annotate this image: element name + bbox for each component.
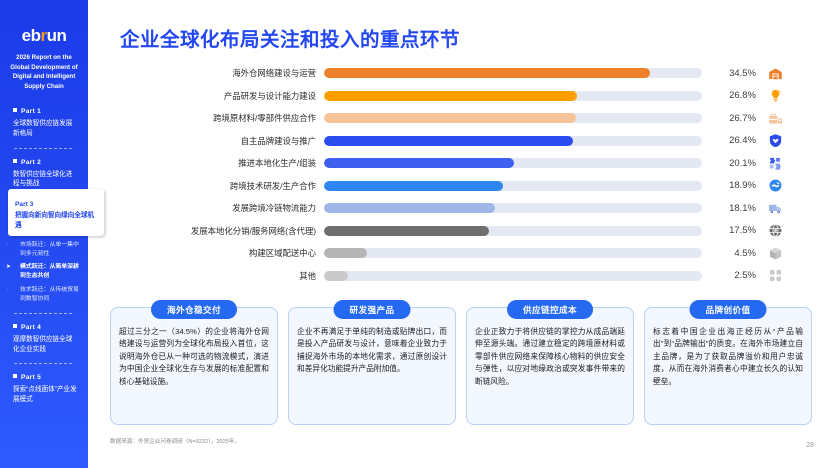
sidebar-subitem-1[interactable]: ➤模式跃迁：从简单深耕到生态共创 [6, 263, 82, 281]
bar-fill [324, 68, 650, 78]
bar-value-label: 34.5% [702, 68, 756, 79]
bar-value-label: 17.5% [702, 225, 756, 236]
sidebar-subitem-2[interactable]: ·技术跃迁：从传统贸易到数智协同 [6, 286, 82, 304]
bar-row: 产品研发与设计能力建设26.8% [98, 85, 832, 108]
bar-category-label: 自主品牌建设与推广 [98, 135, 324, 147]
bar-category-label: 发展本地化分销/服务网络(含代理) [98, 225, 324, 237]
bar-track [324, 181, 702, 191]
horizontal-bar-chart: 海外仓网络建设与运营34.5%产品研发与设计能力建设26.8%跨境原材料/零部件… [98, 62, 832, 287]
bar-fill [324, 203, 495, 213]
bar-row: 发展跨境冷链物流能力18.1% [98, 197, 832, 220]
page-title: 企业全球化布局关注和投入的重点环节 [120, 23, 460, 52]
logo-text-part1: eb [22, 26, 41, 45]
insight-card-body: 企业不再满足于单纯的制造或贴牌出口，而是投入产品研发与设计，意味着企业致力于捕捉… [297, 326, 447, 376]
bar-value-label: 2.5% [702, 270, 756, 281]
report-subtitle: 2026 Report on the Global Development of… [6, 53, 82, 91]
bullet-icon [13, 374, 17, 378]
puzzle-icon [756, 156, 786, 171]
insight-card: 研发强产品企业不再满足于单纯的制造或贴牌出口，而是投入产品研发与设计，意味着企业… [288, 307, 456, 425]
bar-value-label: 26.8% [702, 90, 756, 101]
bar-fill [324, 91, 577, 101]
sidebar-item-part4-label: Part 4 [21, 324, 41, 331]
bullet-dot-icon: · [6, 286, 8, 295]
sidebar-divider-3 [14, 363, 72, 364]
sidebar-item-part4-desc: 观摩数智供应链全球化企业实践 [6, 335, 82, 355]
bar-fill [324, 248, 367, 258]
bar-track [324, 248, 702, 258]
bar-track [324, 271, 702, 281]
insight-card-title: 供应链控成本 [507, 300, 593, 319]
lightbulb-icon [756, 88, 786, 103]
toolbox-icon [756, 111, 786, 126]
brand-logo: ebrun [6, 26, 82, 46]
source-note: 数据来源：外贸企业问卷调研（N=9232），2025年。 [110, 437, 240, 445]
arrow-right-icon: ➤ [6, 263, 11, 272]
bar-value-label: 18.9% [702, 180, 756, 191]
truck-icon [756, 201, 786, 216]
bar-value-label: 26.4% [702, 135, 756, 146]
bar-track [324, 113, 702, 123]
sidebar-item-part5-desc: 探索“点线面体”产业发展模式 [6, 385, 82, 405]
bar-fill [324, 113, 576, 123]
bar-row: 海外仓网络建设与运营34.5% [98, 62, 832, 85]
bar-track [324, 158, 702, 168]
insight-card: 海外仓稳交付超过三分之一（34.5%）的企业将海外仓网络建设与运营列为全球化布局… [110, 307, 278, 425]
bullet-icon [13, 324, 17, 328]
bar-row: 跨境技术研发/生产合作18.9% [98, 175, 832, 198]
insight-card: 供应链控成本企业正致力于将供应链的掌控力从成品端延伸至源头端。通过建立稳定的跨境… [466, 307, 634, 425]
page-number: 28 [806, 442, 814, 449]
insight-card-body: 企业正致力于将供应链的掌控力从成品端延伸至源头端。通过建立稳定的跨境原材料或零部… [475, 326, 625, 388]
bar-category-label: 推进本地化生产/组装 [98, 157, 324, 169]
bar-value-label: 18.1% [702, 203, 756, 214]
bar-fill [324, 226, 489, 236]
insight-cards: 海外仓稳交付超过三分之一（34.5%）的企业将海外仓网络建设与运营列为全球化布局… [110, 307, 812, 425]
sidebar-subitem-0[interactable]: ·市场跃迁：从单一集中到多元韧性 [6, 241, 82, 259]
bar-row: 构建区域配送中心4.5% [98, 242, 832, 265]
sidebar-item-part1-label: Part 1 [21, 108, 41, 115]
bar-track [324, 68, 702, 78]
warehouse-icon [756, 66, 786, 81]
shield-heart-icon [756, 133, 786, 148]
sidebar-item-part2-label: Part 2 [21, 159, 41, 166]
bar-track [324, 136, 702, 146]
sidebar-item-part5[interactable]: Part 5 [6, 373, 82, 383]
insight-card-body: 标志着中国企业出海正经历从“产品输出”到“品牌输出”的质变。在海外市场建立自主品… [653, 326, 803, 388]
sidebar-subitem-1-label: 模式跃迁：从简单深耕到生态共创 [13, 263, 82, 281]
sidebar-item-part4[interactable]: Part 4 [6, 323, 82, 333]
bar-value-label: 20.1% [702, 158, 756, 169]
bar-category-label: 发展跨境冷链物流能力 [98, 202, 324, 214]
bar-track [324, 203, 702, 213]
bar-row: 其他2.5% [98, 265, 832, 288]
bar-row: 跨境原材料/零部件供应合作26.7% [98, 107, 832, 130]
bar-fill [324, 136, 573, 146]
bar-row: 发展本地化分销/服务网络(含代理)17.5% [98, 220, 832, 243]
bar-track [324, 91, 702, 101]
grid-dots-icon [756, 268, 786, 283]
sidebar-item-part5-label: Part 5 [21, 374, 41, 381]
slide-root: ebrun 2026 Report on the Global Developm… [0, 0, 832, 468]
bar-category-label: 跨境原材料/零部件供应合作 [98, 112, 324, 124]
sidebar-divider-1 [14, 148, 72, 149]
logo-text-part2: un [47, 26, 67, 45]
insight-card: 品牌创价值标志着中国企业出海正经历从“产品输出”到“品牌输出”的质变。在海外市场… [644, 307, 812, 425]
bar-row: 推进本地化生产/组装20.1% [98, 152, 832, 175]
sidebar-nav: Part 1 全球数智供应链发展新格局 Part 2 数智供应链全球化进程与挑战… [6, 107, 82, 404]
bar-row: 自主品牌建设与推广26.4% [98, 130, 832, 153]
sidebar-subitem-0-label: 市场跃迁：从单一集中到多元韧性 [13, 241, 82, 259]
bar-fill [324, 181, 503, 191]
sidebar-item-part3[interactable]: Part 3 把握向新向智向绿向全球机遇 [8, 189, 104, 236]
bullet-dot-icon: · [6, 241, 8, 250]
globe-network-icon [756, 223, 786, 238]
sidebar-item-part1-desc: 全球数智供应链发展新格局 [6, 119, 82, 139]
insight-card-title: 研发强产品 [334, 300, 411, 319]
insight-card-title: 海外仓稳交付 [151, 300, 237, 319]
bar-value-label: 4.5% [702, 248, 756, 259]
bar-category-label: 海外仓网络建设与运营 [98, 67, 324, 79]
sidebar-item-part3-label: Part 3 [15, 201, 33, 208]
handshake-globe-icon [756, 178, 786, 193]
sidebar-divider-2 [14, 313, 72, 314]
bar-category-label: 产品研发与设计能力建设 [98, 90, 324, 102]
sidebar-item-part2[interactable]: Part 2 [6, 158, 82, 168]
insight-card-body: 超过三分之一（34.5%）的企业将海外仓网络建设与运营列为全球化布局投入首位，这… [119, 326, 269, 388]
bar-track [324, 226, 702, 236]
sidebar-subitem-2-label: 技术跃迁：从传统贸易到数智协同 [13, 286, 82, 304]
sidebar-item-part2-desc: 数智供应链全球化进程与挑战 [6, 170, 82, 190]
insight-card-title: 品牌创价值 [690, 300, 767, 319]
bullet-icon [13, 159, 17, 163]
sidebar: ebrun 2026 Report on the Global Developm… [0, 0, 88, 468]
bar-fill [324, 158, 514, 168]
bar-category-label: 其他 [98, 270, 324, 282]
main-content: 企业全球化布局关注和投入的重点环节 海外仓网络建设与运营34.5%产品研发与设计… [88, 0, 832, 468]
bullet-icon [13, 108, 17, 112]
sidebar-item-part3-desc: 把握向新向智向绿向全球机遇 [15, 211, 99, 231]
bar-fill [324, 271, 348, 281]
package-icon [756, 246, 786, 261]
bar-category-label: 跨境技术研发/生产合作 [98, 180, 324, 192]
sidebar-sublist: ·市场跃迁：从单一集中到多元韧性 ➤模式跃迁：从简单深耕到生态共创 ·技术跃迁：… [6, 241, 82, 304]
sidebar-item-part1[interactable]: Part 1 [6, 107, 82, 117]
bar-value-label: 26.7% [702, 113, 756, 124]
bar-category-label: 构建区域配送中心 [98, 247, 324, 259]
